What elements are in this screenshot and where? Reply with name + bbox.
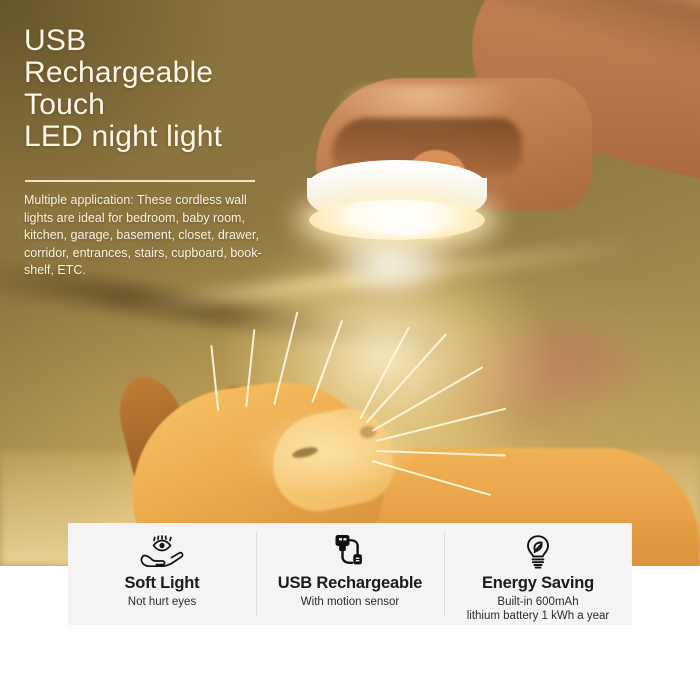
eye-in-hand-icon [139, 534, 185, 570]
led-puck-light [307, 160, 487, 238]
feature-soft-light: Soft Light Not hurt eyes [68, 523, 256, 625]
feature-title: Energy Saving [482, 574, 594, 593]
product-ad-banner: USBRechargeableTouchLED night light Mult… [0, 0, 700, 700]
feature-energy-saving: Energy Saving Built-in 600mAh lithium ba… [444, 523, 632, 625]
title-divider [25, 180, 255, 182]
feature-bar: Soft Light Not hurt eyes [68, 523, 632, 625]
feature-subtitle: With motion sensor [301, 595, 399, 609]
feature-title: Soft Light [125, 574, 200, 593]
bulb-leaf-icon [522, 534, 554, 570]
usb-cable-icon [333, 534, 367, 570]
page-title-line: Touch [24, 89, 354, 121]
feature-title: USB Rechargeable [278, 574, 422, 593]
page-title-line: Rechargeable [24, 57, 354, 89]
feature-subtitle-line: lithium battery 1 kWh a year [467, 609, 610, 623]
lamp-hotspot [361, 212, 457, 240]
product-photo: USBRechargeableTouchLED night light Mult… [0, 0, 700, 566]
page-title-line: USB [24, 25, 354, 57]
description-text: Multiple application: These cordless wal… [24, 192, 269, 280]
feature-subtitle: Built-in 600mAh lithium battery 1 kWh a … [467, 595, 610, 623]
feature-usb-rechargeable: USB Rechargeable With motion sensor [256, 523, 444, 625]
page-title-line: LED night light [24, 121, 354, 153]
feature-subtitle-line: Built-in 600mAh [467, 595, 610, 609]
feature-subtitle: Not hurt eyes [128, 595, 196, 609]
page-title: USBRechargeableTouchLED night light [24, 25, 354, 153]
